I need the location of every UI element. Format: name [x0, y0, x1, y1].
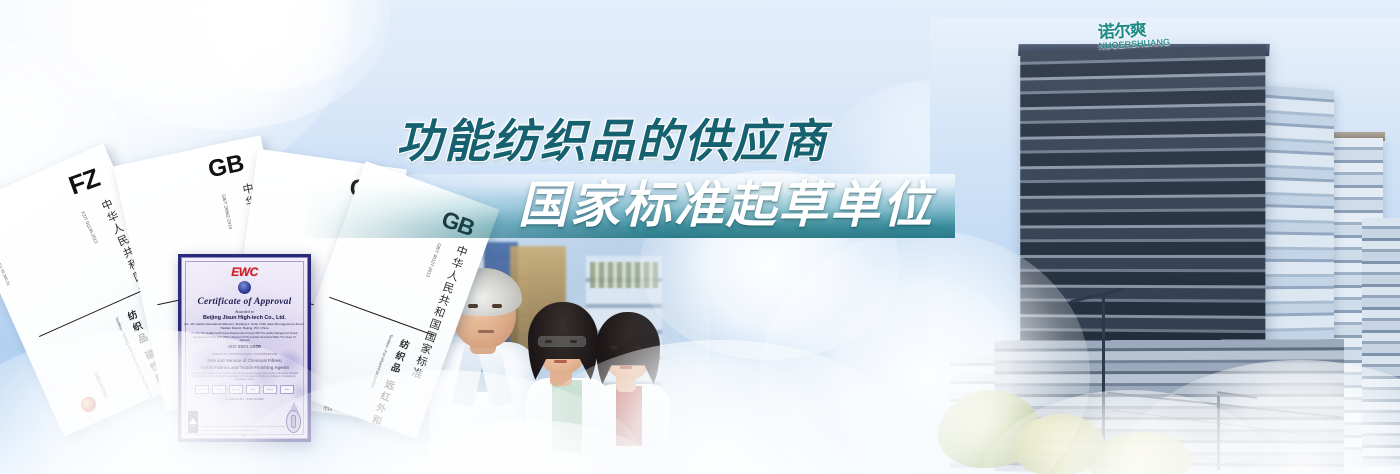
street-lamp-pole — [1217, 396, 1220, 470]
mouth — [554, 360, 567, 363]
certificate-number: Certificate No.: EWC71/0002 — [182, 397, 307, 401]
certificate-date-boxes: Issue 01 Date Issue 02 Date Expiry Date — [182, 385, 307, 394]
awarded-to-label: Awarded to — [182, 309, 307, 314]
seal-ribbon — [289, 402, 299, 412]
certificate-fine-print: This approval is subject to the company … — [182, 373, 307, 383]
scope-label: SCOPE OF CERTIFICATION / REGISTRATION — [182, 353, 307, 356]
ukas-crown-glyph — [189, 418, 197, 424]
ukas-label: UKAS — [190, 425, 196, 427]
inner-shirt — [552, 380, 582, 452]
ukas-accreditation-icon: UKAS — [188, 411, 198, 433]
date-box: Issue 01 — [195, 385, 209, 394]
mouth — [478, 330, 494, 333]
date-box: Date — [212, 385, 226, 394]
mouth — [620, 366, 632, 369]
publisher-seal-icon — [79, 394, 99, 414]
certificate-form-code: 009/0 — [182, 435, 307, 437]
eye — [611, 346, 618, 349]
certificate-statement: Has Met The Quality Conformance Required… — [182, 332, 307, 343]
eye — [570, 340, 577, 343]
accreditation-text: Accreditation Number: 014 International … — [198, 426, 286, 433]
standard-ics: ICS 59.080.01 — [0, 261, 15, 294]
headline-line-2: 国家标准起草单位 — [518, 180, 934, 230]
date-box: Expiry — [263, 385, 277, 394]
standard-code: GB — [206, 149, 247, 184]
eye — [545, 340, 552, 343]
scope-line-2: Textile Fabrics and Textile Finishing Ag… — [182, 365, 307, 370]
lab-sample-bottles — [590, 262, 658, 288]
company-name: Beijing Jisun High-tech Co., Ltd. — [182, 315, 307, 321]
anchor-emblem-icon — [238, 281, 251, 294]
eye — [634, 346, 641, 349]
standard-code: GB — [438, 206, 478, 242]
inner-shirt — [616, 386, 642, 446]
hero-banner: 诺尔爽 NUOERSHUANG — [0, 0, 1400, 474]
cloud-shape — [60, 0, 390, 130]
standard-number: GB/T 29862-2013 — [221, 194, 235, 238]
certificate-title: Certificate of Approval — [182, 297, 307, 307]
standard-number: GB/T 30127-2013 — [424, 242, 442, 281]
divider — [329, 297, 435, 336]
certificate-body: EWC Certificate of Approval Awarded to B… — [181, 257, 308, 439]
scope-line-1: Sale and Service of Chemical Fibres, — [182, 358, 307, 363]
standard-title: 中华人民共和国国家标准 — [423, 243, 471, 339]
standard-reference: ISO 9001:2000 — [182, 345, 307, 350]
office-building-photo: 诺尔爽 NUOERSHUANG — [930, 18, 1400, 474]
date-box: Date — [280, 385, 294, 394]
tertiary-tower — [1362, 218, 1400, 466]
standard-code: FZ — [65, 162, 104, 201]
standard-subtitle: 纺织品 远红外和评价 — [379, 337, 411, 394]
rooftop-company-sign: 诺尔爽 NUOERSHUANG — [1097, 20, 1170, 51]
company-address: No. 18, Caida International Mansion, Bui… — [182, 322, 307, 330]
ewc-logo: EWC — [182, 265, 307, 279]
cloud-shape — [150, 0, 380, 90]
standard-publisher: 中国标准出版社 — [93, 371, 113, 406]
date-box: Issue 02 — [229, 385, 243, 394]
certificates-collage: FZ 中华人民共和国纺织行业标准 FZ/T 01136-2013 ICS 59.… — [0, 150, 470, 474]
certificate-footer-row: UKAS Accreditation Number: 014 Internati… — [188, 410, 301, 433]
date-box: Date — [246, 385, 260, 394]
eye — [492, 304, 502, 308]
standard-number: FZ/T 01136-2013 — [80, 211, 101, 250]
iso-certificate-of-approval: EWC Certificate of Approval Awarded to B… — [178, 254, 311, 442]
embossed-seal-icon — [286, 410, 301, 433]
